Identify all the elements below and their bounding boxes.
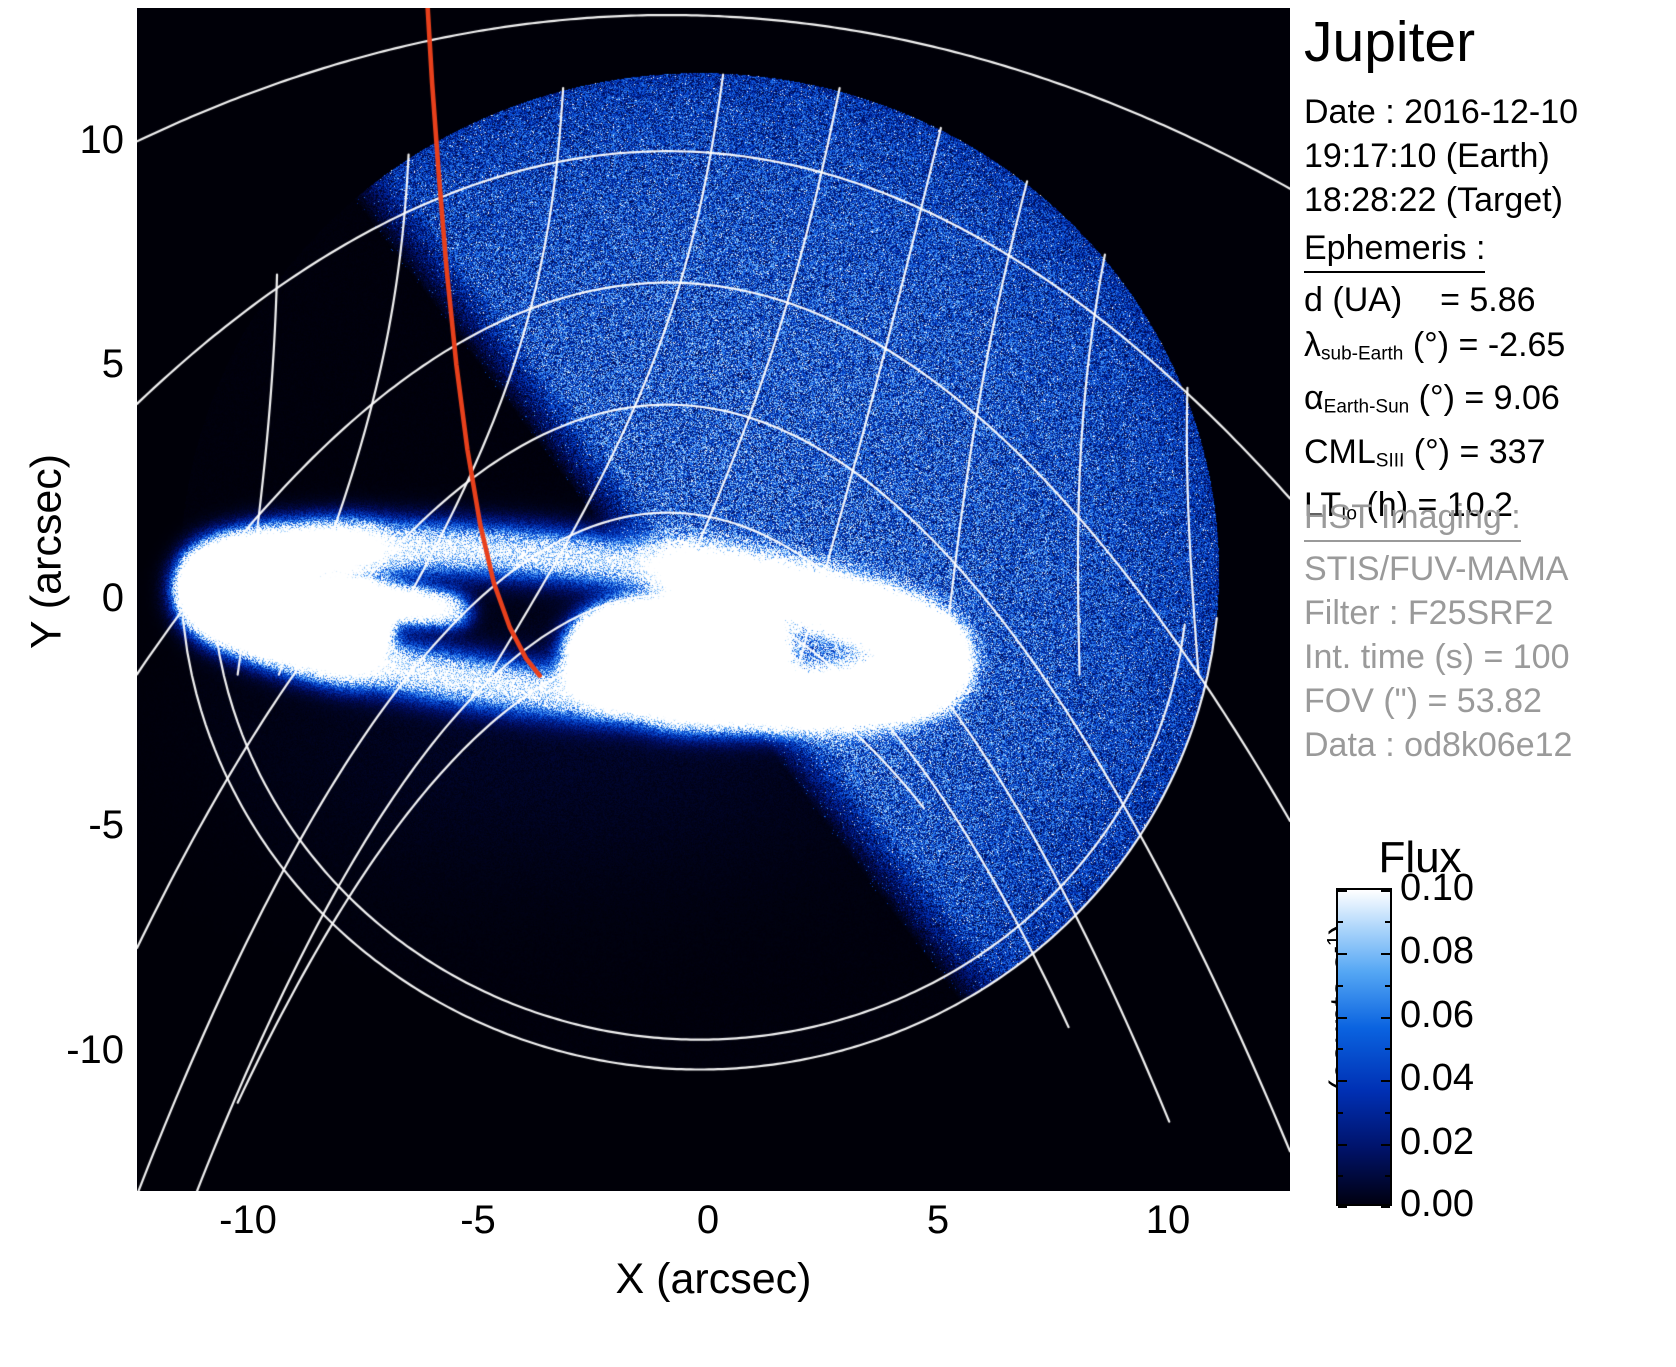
hst-filter: Filter : F25SRF2 bbox=[1304, 591, 1572, 635]
y-tick-label: 5 bbox=[14, 344, 124, 384]
y-tick-label: 10 bbox=[14, 120, 124, 160]
ephemeris-symbol: λ bbox=[1304, 326, 1321, 364]
ephemeris-heading: Ephemeris : bbox=[1304, 228, 1485, 273]
observation-image-panel bbox=[137, 8, 1290, 1191]
colorbar-tick-label: 0.04 bbox=[1400, 1059, 1474, 1097]
x-tick-label: 10 bbox=[1098, 1200, 1238, 1240]
x-tick-label: -5 bbox=[408, 1200, 548, 1240]
colorbar-tick-label: 0.10 bbox=[1400, 869, 1474, 907]
ephemeris-subscript: Earth-Sun bbox=[1324, 397, 1410, 418]
observation-date: Date : 2016-12-10 bbox=[1304, 90, 1578, 134]
ephemeris-symbol: d bbox=[1304, 281, 1323, 319]
hst-data-id: Data : od8k06e12 bbox=[1304, 723, 1572, 767]
hst-imaging-block: HST Imaging : STIS/FUV-MAMA Filter : F25… bbox=[1304, 497, 1572, 767]
observation-date-block: Date : 2016-12-10 19:17:10 (Earth) 18:28… bbox=[1304, 90, 1578, 222]
colorbar-tick-minor bbox=[1338, 1048, 1343, 1050]
hst-imaging-heading: HST Imaging : bbox=[1304, 497, 1521, 542]
colorbar-tick-major bbox=[1338, 1206, 1347, 1208]
ephemeris-symbol: α bbox=[1304, 379, 1324, 417]
x-tick-label: 5 bbox=[868, 1200, 1008, 1240]
colorbar-tick-major bbox=[1381, 890, 1390, 892]
colorbar-tick-minor bbox=[1385, 985, 1390, 987]
observation-time-earth: 19:17:10 (Earth) bbox=[1304, 134, 1578, 178]
ephemeris-unit: (°) bbox=[1413, 326, 1449, 364]
colorbar-tick-major bbox=[1338, 1017, 1347, 1019]
y-tick-label: -5 bbox=[14, 805, 124, 845]
observation-time-target: 18:28:22 (Target) bbox=[1304, 178, 1578, 222]
colorbar-tick-major bbox=[1338, 1144, 1347, 1146]
ephemeris-unit: (°) bbox=[1419, 379, 1455, 417]
colorbar-tick-label: 0.08 bbox=[1400, 932, 1474, 970]
ephemeris-subscript: sub-Earth bbox=[1321, 343, 1403, 364]
colorbar-tick-minor bbox=[1385, 1175, 1390, 1177]
jupiter-aurora-image bbox=[137, 8, 1290, 1191]
x-tick-label: -10 bbox=[178, 1200, 318, 1240]
ephemeris-row-cml: CMLSIII (°) = 337 bbox=[1304, 430, 1565, 483]
ephemeris-value: = -2.65 bbox=[1459, 326, 1566, 364]
colorbar-tick-major bbox=[1338, 890, 1347, 892]
colorbar-tick-minor bbox=[1385, 921, 1390, 923]
colorbar-tick-label: 0.06 bbox=[1400, 996, 1474, 1034]
colorbar-tick-major bbox=[1381, 1144, 1390, 1146]
ephemeris-row-phase-angle: αEarth-Sun (°) = 9.06 bbox=[1304, 376, 1565, 429]
colorbar-tick-minor bbox=[1338, 985, 1343, 987]
ephemeris-unit: (UA) bbox=[1332, 281, 1402, 319]
hst-integration-time: Int. time (s) = 100 bbox=[1304, 635, 1572, 679]
ephemeris-row-distance: d (UA) = 5.86 bbox=[1304, 278, 1565, 323]
page-title: Jupiter bbox=[1304, 14, 1475, 71]
colorbar-tick-minor bbox=[1385, 1112, 1390, 1114]
ephemeris-symbol: CML bbox=[1304, 433, 1376, 471]
colorbar-tick-label: 0.00 bbox=[1400, 1185, 1474, 1223]
colorbar-gradient bbox=[1336, 888, 1392, 1206]
y-axis-title: Y (arcsec) bbox=[26, 407, 69, 697]
x-axis-title: X (arcsec) bbox=[137, 1258, 1290, 1301]
colorbar-tick-label: 0.02 bbox=[1400, 1123, 1474, 1161]
colorbar-tick-major bbox=[1381, 1017, 1390, 1019]
ephemeris-row-sub-earth-latitude: λsub-Earth (°) = -2.65 bbox=[1304, 323, 1565, 376]
hst-field-of-view: FOV (") = 53.82 bbox=[1304, 679, 1572, 723]
colorbar-tick-minor bbox=[1338, 1175, 1343, 1177]
colorbar-tick-minor bbox=[1385, 1048, 1390, 1050]
ephemeris-value: = 5.86 bbox=[1440, 281, 1535, 319]
colorbar-tick-major bbox=[1381, 1080, 1390, 1082]
ephemeris-value: = 9.06 bbox=[1464, 379, 1559, 417]
colorbar-tick-major bbox=[1338, 1080, 1347, 1082]
colorbar-tick-minor bbox=[1338, 921, 1343, 923]
x-tick-label: 0 bbox=[638, 1200, 778, 1240]
colorbar-tick-minor bbox=[1338, 1112, 1343, 1114]
colorbar-tick-major bbox=[1381, 1206, 1390, 1208]
colorbar-tick-major bbox=[1381, 953, 1390, 955]
ephemeris-block: Ephemeris : d (UA) = 5.86 λsub-Earth (°)… bbox=[1304, 228, 1565, 537]
ephemeris-unit: (°) bbox=[1414, 433, 1450, 471]
y-tick-label: -10 bbox=[14, 1030, 124, 1070]
ephemeris-value: = 337 bbox=[1459, 433, 1545, 471]
ephemeris-subscript: SIII bbox=[1376, 450, 1405, 471]
hst-instrument: STIS/FUV-MAMA bbox=[1304, 547, 1572, 591]
colorbar-tick-major bbox=[1338, 953, 1347, 955]
